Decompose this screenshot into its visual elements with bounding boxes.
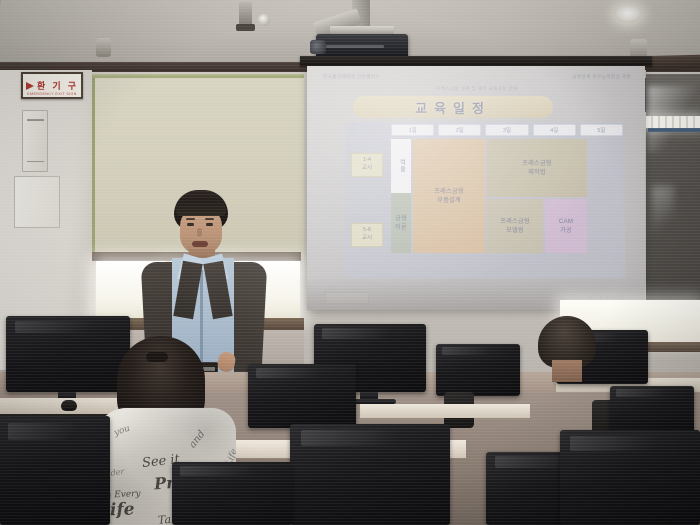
cell-make-line2: 제작법 xyxy=(528,168,546,177)
wall-control-box xyxy=(14,176,60,228)
period-unit: 교시 xyxy=(362,235,372,243)
cell-part-design: 프레스금형 부품설계 xyxy=(413,139,485,253)
student-hair-tie xyxy=(146,352,168,362)
cell-theory: 금형 이론 xyxy=(391,193,411,253)
classroom-photo: 환 기 구 EMERGENCY EXIT SIGN 한국폴리텍대학 인천캠퍼스 … xyxy=(0,0,700,525)
presenter-fringe xyxy=(176,198,226,216)
cell-part-line2: 부품설계 xyxy=(437,196,461,205)
monitor xyxy=(290,424,450,525)
presenter-mouth xyxy=(192,241,208,247)
ceiling-smoke-detector-icon xyxy=(258,14,270,26)
monitor xyxy=(560,430,700,525)
cell-manufacturing: 프레스금형 제작법 xyxy=(487,139,587,197)
period-column: 1-4 교시 5-8 교시 xyxy=(345,122,389,278)
monitor xyxy=(6,316,130,392)
period-range: 5-8 xyxy=(363,227,371,235)
exit-sign-label: 환 기 구 xyxy=(37,79,78,92)
ceiling-lamp-icon xyxy=(615,6,641,22)
day-header-row: 1일 2일 3일 4일 5일 xyxy=(389,122,625,137)
schedule-table: 1-4 교시 5-8 교시 1일 2일 3일 4일 5일 xyxy=(345,122,625,278)
fluorescent-light-icon xyxy=(646,116,700,128)
period-unit: 교시 xyxy=(362,165,372,173)
projector-lens-icon xyxy=(310,40,326,54)
day-header: 3일 xyxy=(485,124,528,136)
cell-cam-line2: 가공 xyxy=(560,226,572,235)
presenter-eye xyxy=(206,223,213,226)
presenter-eyebrow xyxy=(186,218,195,220)
monitor xyxy=(0,416,110,525)
screen-housing xyxy=(300,56,652,66)
presenter-eyebrow xyxy=(205,218,214,220)
day-header: 4일 xyxy=(533,124,576,136)
monitor xyxy=(610,386,694,436)
desk-mid-right xyxy=(360,404,530,418)
period-cell: 5-8 교시 xyxy=(351,223,383,247)
slide-corner-tag xyxy=(325,292,369,304)
slide-header-right: 금형설계 직무능력향상 과정 xyxy=(572,74,631,96)
exit-sign-sublabel: EMERGENCY EXIT SIGN xyxy=(23,92,81,96)
day-header: 1일 xyxy=(391,124,434,136)
cell-make-line1: 프레스금형 xyxy=(522,159,551,168)
light-fixture-bar xyxy=(648,128,700,132)
day-header: 2일 xyxy=(438,124,481,136)
presenter-eye xyxy=(187,223,194,226)
ceiling-sensor-icon xyxy=(96,38,111,57)
presenter-nose xyxy=(197,228,202,237)
cell-theory-line2: 이론 xyxy=(395,223,407,232)
cell-theory-line1: 금형 xyxy=(395,214,407,223)
wall-bracket xyxy=(22,110,48,172)
day-header: 5일 xyxy=(580,124,623,136)
monitor xyxy=(248,364,356,428)
period-cell: 1-4 교시 xyxy=(351,153,383,177)
projection-screen: 한국폴리텍대학 인천캠퍼스 금형설계 직무능력향상 과정 프레스금형 설계 및 … xyxy=(307,66,645,310)
arrow-right-icon xyxy=(26,82,34,90)
schedule-grid: 1일 2일 3일 4일 5일 력물 금형 이론 프레스금형 xyxy=(389,122,625,278)
slide-content: 한국폴리텍대학 인천캠퍼스 금형설계 직무능력향상 과정 프레스금형 설계 및 … xyxy=(319,72,635,304)
emergency-exit-sign: 환 기 구 EMERGENCY EXIT SIGN xyxy=(21,72,83,99)
slide-header-left: 한국폴리텍대학 인천캠퍼스 xyxy=(323,74,380,96)
cell-model-line2: 모델링 xyxy=(506,226,524,235)
schedule-body: 력물 금형 이론 프레스금형 부품설계 프레스금형 제작법 xyxy=(389,137,625,278)
monitor xyxy=(172,462,292,525)
student-back-right-neck xyxy=(552,360,582,382)
monitor xyxy=(436,344,520,396)
ceiling-mount-icon xyxy=(239,2,252,26)
slide-header: 한국폴리텍대학 인천캠퍼스 금형설계 직무능력향상 과정 xyxy=(323,74,631,96)
period-range: 1-4 xyxy=(363,157,371,165)
mouse-icon xyxy=(61,400,77,411)
slide-subheader: 프레스금형 설계 및 제작 교육과정 안내 xyxy=(319,86,635,92)
cell-cam-line1: CAM xyxy=(559,217,573,226)
slide-title: 교육일정 xyxy=(353,96,553,118)
cell-modeling: 프레스금형 모델링 xyxy=(487,199,543,253)
board-glare xyxy=(652,186,674,242)
cell-intro: 력물 xyxy=(391,139,411,193)
cell-model-line1: 프레스금형 xyxy=(500,217,529,226)
cell-cam: CAM 가공 xyxy=(545,199,587,253)
cell-part-line1: 프레스금형 xyxy=(434,187,463,196)
